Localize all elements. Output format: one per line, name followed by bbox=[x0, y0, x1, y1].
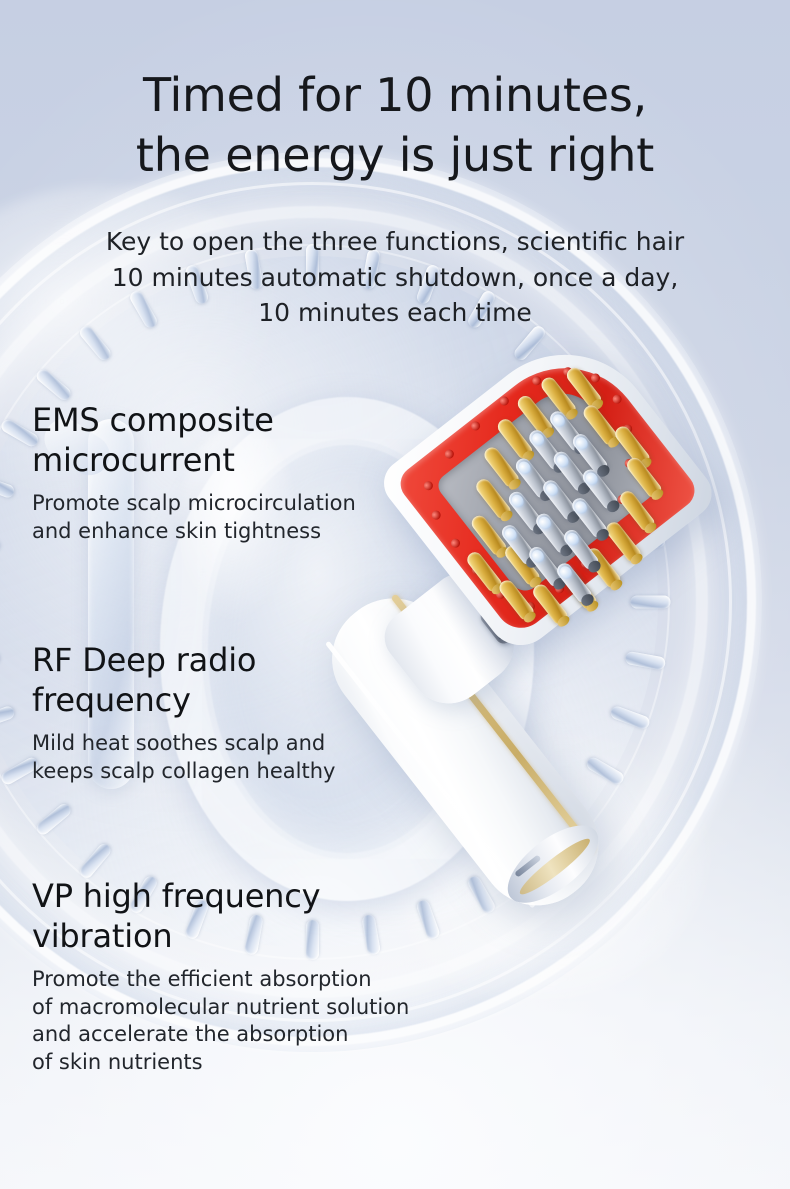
feature-vp-desc-line-2: of macromolecular nutrient solution bbox=[32, 994, 409, 1022]
feature-ems-title-line-1: EMS composite bbox=[32, 400, 356, 440]
feature-rf-desc: Mild heat soothes scalp and keeps scalp … bbox=[32, 730, 335, 786]
title-line-2: the energy is just right bbox=[0, 126, 790, 186]
feature-vp-desc-line-1: Promote the efficient absorption bbox=[32, 966, 409, 994]
feature-ems-desc-line-2: and enhance skin tightness bbox=[32, 518, 356, 546]
feature-rf-desc-line-2: keeps scalp collagen healthy bbox=[32, 758, 335, 786]
feature-vp-desc-line-4: of skin nutrients bbox=[32, 1049, 409, 1077]
feature-rf-title: RF Deep radio frequency bbox=[32, 640, 335, 721]
feature-vp: VP high frequency vibration Promote the … bbox=[32, 876, 409, 1077]
feature-ems-desc-line-1: Promote scalp microcirculation bbox=[32, 490, 356, 518]
feature-ems-title: EMS composite microcurrent bbox=[32, 400, 356, 481]
feature-ems-title-line-2: microcurrent bbox=[32, 440, 356, 480]
subtitle-line-1: Key to open the three functions, scienti… bbox=[0, 224, 790, 260]
page-title: Timed for 10 minutes, the energy is just… bbox=[0, 66, 790, 186]
feature-ems: EMS composite microcurrent Promote scalp… bbox=[32, 400, 356, 545]
feature-rf-title-line-2: frequency bbox=[32, 680, 335, 720]
subtitle-line-2: 10 minutes automatic shutdown, once a da… bbox=[0, 260, 790, 296]
product-marketing-image: Timed for 10 minutes, the energy is just… bbox=[0, 0, 790, 1189]
feature-vp-desc: Promote the efficient absorption of macr… bbox=[32, 966, 409, 1078]
feature-rf: RF Deep radio frequency Mild heat soothe… bbox=[32, 640, 335, 785]
feature-rf-title-line-1: RF Deep radio bbox=[32, 640, 335, 680]
feature-vp-title-line-2: vibration bbox=[32, 916, 409, 956]
subtitle-line-3: 10 minutes each time bbox=[0, 295, 790, 331]
page-subtitle: Key to open the three functions, scienti… bbox=[0, 224, 790, 331]
feature-vp-desc-line-3: and accelerate the absorption bbox=[32, 1021, 409, 1049]
title-line-1: Timed for 10 minutes, bbox=[0, 66, 790, 126]
feature-vp-title-line-1: VP high frequency bbox=[32, 876, 409, 916]
feature-ems-desc: Promote scalp microcirculation and enhan… bbox=[32, 490, 356, 546]
feature-rf-desc-line-1: Mild heat soothes scalp and bbox=[32, 730, 335, 758]
feature-vp-title: VP high frequency vibration bbox=[32, 876, 409, 957]
